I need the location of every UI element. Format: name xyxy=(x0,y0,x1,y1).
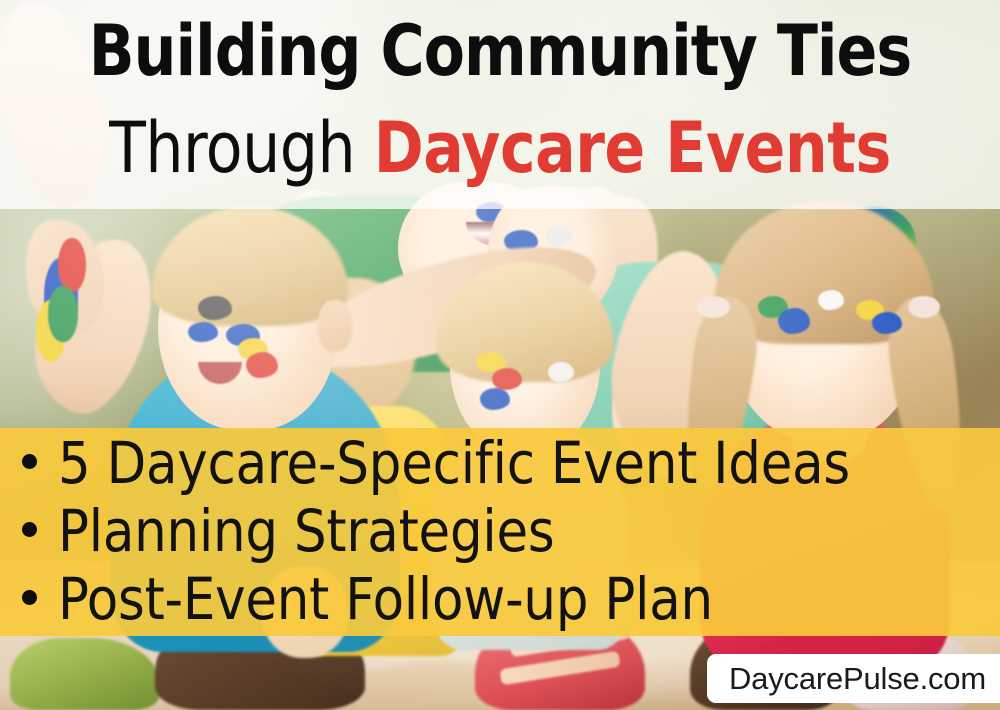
facepaint-white-pink-child xyxy=(818,290,844,310)
paint-green-finger xyxy=(48,286,78,342)
facepaint-red-teal-child xyxy=(246,352,278,378)
facepaint-blue-small-child xyxy=(480,388,510,410)
list-item-label: Planning Strategies xyxy=(58,502,555,560)
bullet-dot-icon xyxy=(22,522,37,537)
facepaint-white-small-child xyxy=(548,362,574,382)
list-item: 5 Daycare-Specific Event Ideas xyxy=(0,434,1000,502)
header-overlay-band: Building Community Ties Through Daycare … xyxy=(0,0,1000,209)
page-title-plain-text: Through xyxy=(109,107,374,189)
page-title-accent-text: Daycare Events xyxy=(374,107,891,189)
site-badge[interactable]: DaycarePulse.com xyxy=(707,654,1000,703)
highlights-list: 5 Daycare-Specific Event Ideas Planning … xyxy=(0,434,1000,638)
facepaint-grey-teal-child xyxy=(198,296,232,320)
hair-tie-right xyxy=(908,296,940,318)
paint-red-finger xyxy=(58,238,86,292)
hair-tie-left xyxy=(696,296,730,318)
bullet-dot-icon xyxy=(22,454,37,469)
facepaint-blue-teal-child xyxy=(188,322,218,342)
bullet-dot-icon xyxy=(22,590,37,605)
list-item-label: Post-Event Follow-up Plan xyxy=(58,570,713,628)
site-badge-label: DaycarePulse.com xyxy=(729,663,986,694)
facepaint-blue-pink-child xyxy=(778,308,810,334)
list-item: Post-Event Follow-up Plan xyxy=(0,570,1000,638)
facepaint-red-small-child xyxy=(492,368,522,390)
page-title-line-2: Through Daycare Events xyxy=(23,110,978,186)
list-item: Planning Strategies xyxy=(0,502,1000,570)
facepaint-white-mint-child xyxy=(546,226,572,246)
list-item-label: 5 Daycare-Specific Event Ideas xyxy=(58,434,850,492)
page-title-line-1: Building Community Ties xyxy=(23,14,978,88)
child-teal-ear xyxy=(318,300,352,352)
poster-canvas: Building Community Ties Through Daycare … xyxy=(0,0,1000,710)
highlights-band: 5 Daycare-Specific Event Ideas Planning … xyxy=(0,428,1000,636)
facepaint-blue2-pink-child xyxy=(872,312,902,334)
